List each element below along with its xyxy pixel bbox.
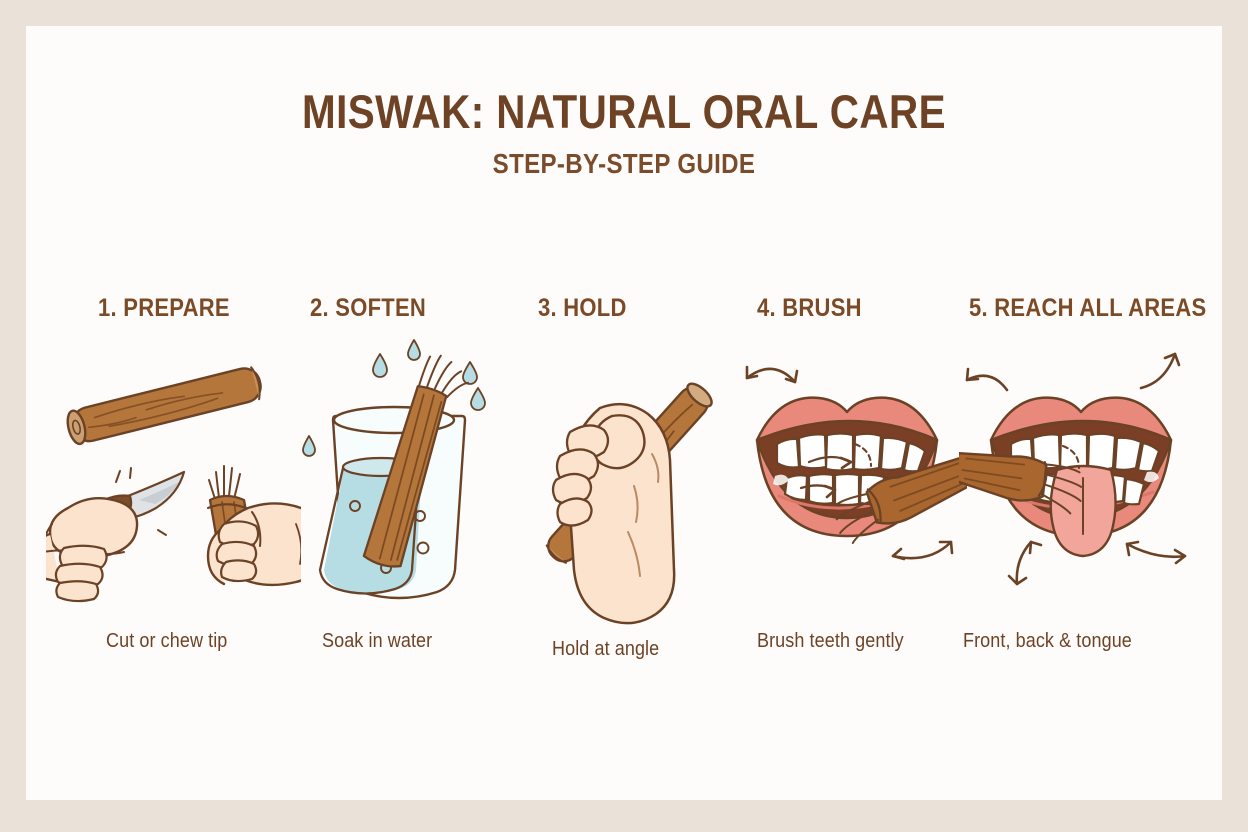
open-mouth-with-tongue-and-arrows-icon	[959, 336, 1202, 631]
step-5-label: 5. REACH ALL AREAS	[969, 294, 1206, 323]
step-5-caption: Front, back & tongue	[963, 630, 1132, 653]
poster-panel: MISWAK: NATURAL ORAL CARE STEP-BY-STEP G…	[26, 26, 1222, 800]
step-4-label: 4. BRUSH	[757, 294, 862, 323]
step-3-label: 3. HOLD	[538, 294, 627, 323]
step-2-soften: 2. SOFTEN	[292, 294, 512, 694]
open-mouth-brushing-teeth-icon	[735, 336, 959, 631]
step-5-reach-all-areas: 5. REACH ALL AREAS	[959, 294, 1202, 694]
page-title: MISWAK: NATURAL ORAL CARE	[110, 84, 1139, 139]
step-2-caption: Soak in water	[322, 630, 432, 653]
step-2-label: 2. SOFTEN	[310, 294, 426, 323]
step-4-caption: Brush teeth gently	[757, 630, 904, 653]
step-3-caption: Hold at angle	[552, 638, 659, 661]
page-subtitle: STEP-BY-STEP GUIDE	[110, 148, 1139, 180]
step-1-prepare: 1. PREPARE	[46, 294, 292, 694]
step-4-brush: 4. BRUSH	[735, 294, 959, 694]
steps-row: 1. PREPARE	[46, 294, 1202, 694]
step-1-caption: Cut or chew tip	[106, 630, 227, 653]
miswak-stick-and-hands-with-knife-icon	[46, 336, 292, 631]
hand-gripping-stick-icon	[512, 336, 736, 631]
step-1-label: 1. PREPARE	[98, 294, 230, 323]
step-3-hold: 3. HOLD	[512, 294, 736, 694]
glass-of-water-with-stick-icon	[292, 336, 512, 631]
